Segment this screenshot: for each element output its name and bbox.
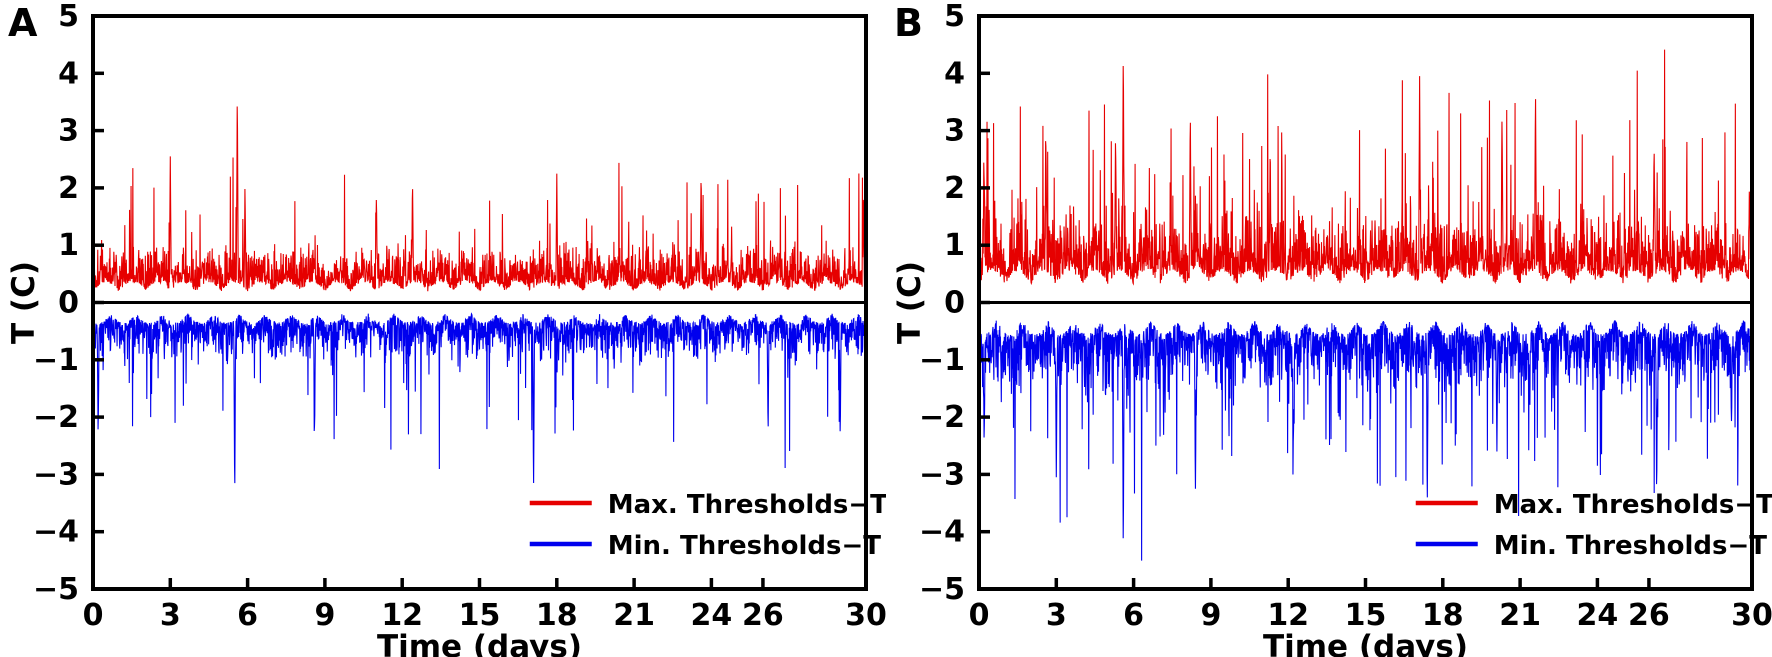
x-tick-label: 24 bbox=[691, 598, 733, 633]
x-tick-label: 6 bbox=[1123, 598, 1144, 633]
legend-label-min: Min. Thresholds−T bbox=[1494, 531, 1768, 561]
y-tick-label: 1 bbox=[944, 228, 965, 263]
y-tick-label: 3 bbox=[944, 114, 965, 149]
y-tick-label: −2 bbox=[919, 400, 965, 435]
y-tick-label: 5 bbox=[944, 0, 965, 34]
y-tick-label: −5 bbox=[919, 572, 965, 607]
x-tick-label: 26 bbox=[742, 598, 784, 633]
x-tick-label: 6 bbox=[237, 598, 258, 633]
x-tick-label: 30 bbox=[1731, 598, 1772, 633]
x-tick-label: 18 bbox=[536, 598, 578, 633]
x-tick-label: 12 bbox=[381, 598, 423, 633]
panel-b-plot: −5−4−3−2−1012345036912151821242630Time (… bbox=[886, 0, 1772, 657]
y-tick-label: 4 bbox=[944, 56, 965, 91]
x-tick-label: 0 bbox=[83, 598, 104, 633]
x-axis-title: Time (days) bbox=[377, 629, 582, 657]
y-tick-label: −2 bbox=[33, 400, 79, 435]
x-axis-title: Time (days) bbox=[1263, 629, 1468, 657]
y-tick-label: −3 bbox=[33, 457, 79, 492]
y-tick-label: 0 bbox=[944, 286, 965, 321]
x-tick-label: 9 bbox=[314, 598, 335, 633]
x-tick-label: 30 bbox=[845, 598, 886, 633]
y-tick-label: 5 bbox=[58, 0, 79, 34]
y-tick-label: −1 bbox=[919, 343, 965, 378]
x-tick-label: 12 bbox=[1267, 598, 1309, 633]
panel-a-plot: −5−4−3−2−1012345036912151821242630Time (… bbox=[0, 0, 886, 657]
series-max-thresholds bbox=[93, 106, 866, 291]
y-tick-label: −1 bbox=[33, 343, 79, 378]
y-tick-label: 4 bbox=[58, 56, 79, 91]
y-tick-label: 0 bbox=[58, 286, 79, 321]
series-min-thresholds bbox=[979, 320, 1752, 561]
series-min-thresholds bbox=[93, 314, 866, 483]
y-tick-label: 1 bbox=[58, 228, 79, 263]
y-axis-title: T (C) bbox=[6, 261, 42, 344]
y-tick-label: −3 bbox=[919, 457, 965, 492]
y-tick-label: −4 bbox=[33, 515, 79, 550]
x-tick-label: 15 bbox=[459, 598, 501, 633]
x-tick-label: 18 bbox=[1422, 598, 1464, 633]
y-tick-label: 2 bbox=[944, 171, 965, 206]
y-axis-title: T (C) bbox=[892, 261, 928, 344]
x-tick-label: 24 bbox=[1577, 598, 1619, 633]
x-tick-label: 3 bbox=[160, 598, 181, 633]
y-tick-label: −5 bbox=[33, 572, 79, 607]
panel-a: A −5−4−3−2−1012345036912151821242630Time… bbox=[0, 0, 886, 657]
panel-b: B −5−4−3−2−1012345036912151821242630Time… bbox=[886, 0, 1772, 657]
figure-canvas: A −5−4−3−2−1012345036912151821242630Time… bbox=[0, 0, 1772, 657]
x-tick-label: 15 bbox=[1345, 598, 1387, 633]
y-tick-label: 3 bbox=[58, 114, 79, 149]
series-max-thresholds bbox=[979, 50, 1752, 284]
x-tick-label: 3 bbox=[1046, 598, 1067, 633]
x-tick-label: 9 bbox=[1200, 598, 1221, 633]
y-tick-label: −4 bbox=[919, 515, 965, 550]
y-tick-label: 2 bbox=[58, 171, 79, 206]
x-tick-label: 26 bbox=[1628, 598, 1670, 633]
x-tick-label: 21 bbox=[1499, 598, 1541, 633]
x-tick-label: 0 bbox=[969, 598, 990, 633]
legend-label-max: Max. Thresholds−T bbox=[608, 490, 886, 520]
legend-label-max: Max. Thresholds−T bbox=[1494, 490, 1772, 520]
legend-label-min: Min. Thresholds−T bbox=[608, 531, 882, 561]
x-tick-label: 21 bbox=[613, 598, 655, 633]
